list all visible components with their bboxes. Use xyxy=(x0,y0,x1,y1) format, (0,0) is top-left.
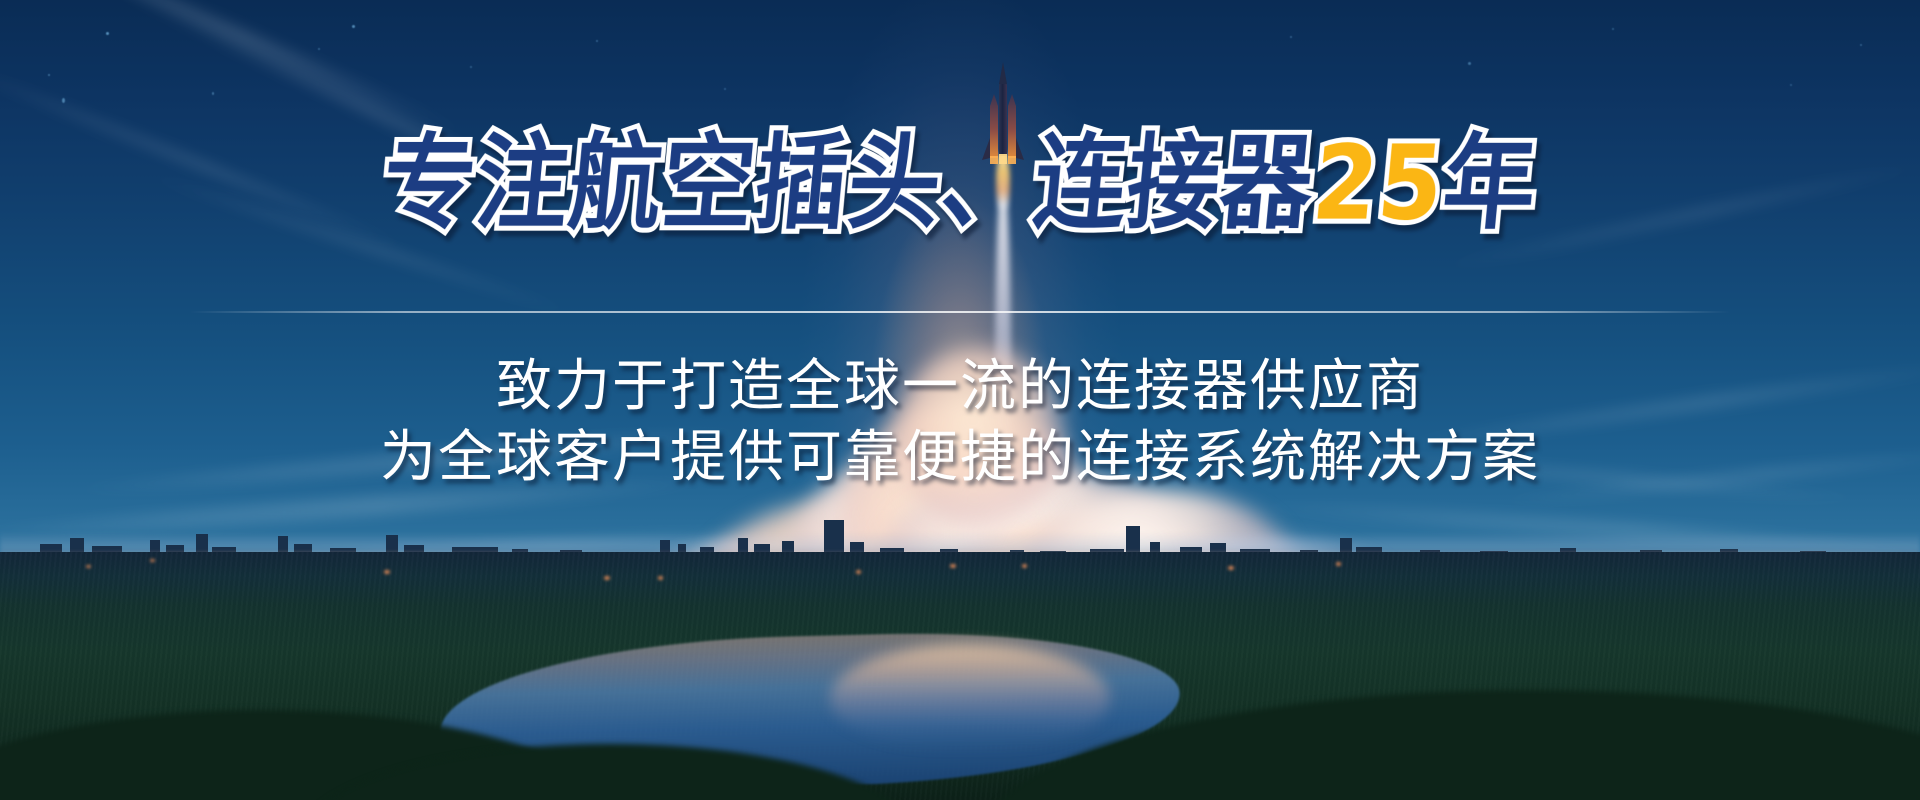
subtitle: 致力于打造全球一流的连接器供应商 为全球客户提供可靠便捷的连接系统解决方案 xyxy=(0,352,1920,493)
ground-light xyxy=(86,565,91,568)
ground-light xyxy=(604,576,610,580)
divider-rule xyxy=(190,311,1730,313)
headline-part-1: 专注航空插头、连接器 xyxy=(379,132,1319,235)
ground-light xyxy=(1336,562,1341,566)
ground-light xyxy=(1022,564,1027,568)
ground-light xyxy=(856,570,861,574)
horizon-haze xyxy=(0,532,1920,554)
ground-light xyxy=(1228,566,1234,570)
subtitle-line-1: 致力于打造全球一流的连接器供应商 xyxy=(0,352,1920,423)
hero-banner: 专注航空插头、连接器25年 致力于打造全球一流的连接器供应商 为全球客户提供可靠… xyxy=(0,0,1920,800)
ground-light xyxy=(384,570,390,574)
subtitle-line-2: 为全球客户提供可靠便捷的连接系统解决方案 xyxy=(0,423,1920,494)
lake-sun-glint xyxy=(830,644,1110,752)
ground-light xyxy=(658,576,663,580)
headline: 专注航空插头、连接器25年 xyxy=(0,132,1920,235)
headline-years: 25 xyxy=(1309,132,1449,235)
headline-part-3: 年 xyxy=(1439,132,1542,235)
ground-light xyxy=(150,559,155,562)
ground-light xyxy=(950,564,956,568)
